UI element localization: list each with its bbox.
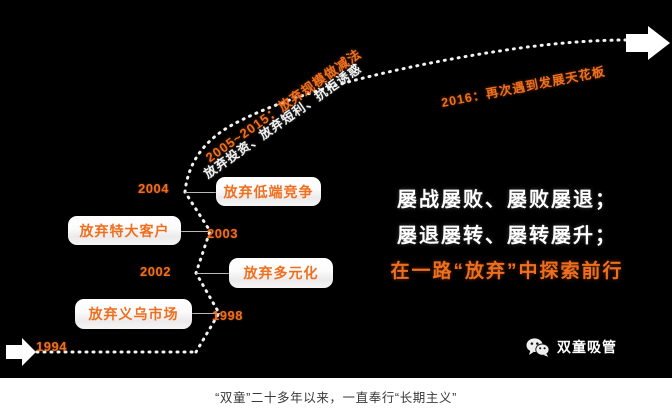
year-label-1998: 1998 [212,308,243,323]
slogan-line-2: 屡退屡转、屡转屡升； [372,226,642,247]
milestone-box-2004: 放弃低端竞争 [216,177,321,206]
connector-2003 [181,231,210,232]
slogan-line-1: 屡战屡败、屡败屡退； [372,190,642,211]
slide-canvas: 1994 1998 2002 2003 2004 放弃低端竞争 放弃特大客户 放… [0,0,672,378]
brand-name: 双童吸管 [557,337,617,357]
arrow-right-icon [626,26,670,60]
arrow-right-start-icon [6,338,36,366]
year-label-2002: 2002 [140,264,171,279]
brand-block: 双童吸管 [526,337,617,357]
milestone-box-2003: 放弃特大客户 [68,216,181,245]
path-segment-zigzag [185,192,219,352]
milestone-box-1998: 放弃义乌市场 [75,299,192,329]
connector-2002 [196,273,231,274]
slogan-line-3: 在一路“放弃”中探索前行 [372,262,642,282]
connector-2004 [185,192,218,193]
bottom-caption: “双童”二十多年以来，一直奉行“长期主义” [0,378,672,414]
milestone-box-2002: 放弃多元化 [229,258,333,288]
slide-root: 1994 1998 2002 2003 2004 放弃低端竞争 放弃特大客户 放… [0,0,672,414]
year-label-2003: 2003 [207,226,238,241]
year-label-1994: 1994 [36,339,67,354]
wechat-icon [526,338,550,357]
year-label-2004: 2004 [138,181,169,196]
slogan-block: 屡战屡败、屡败屡退； 屡退屡转、屡转屡升； 在一路“放弃”中探索前行 [372,190,642,282]
